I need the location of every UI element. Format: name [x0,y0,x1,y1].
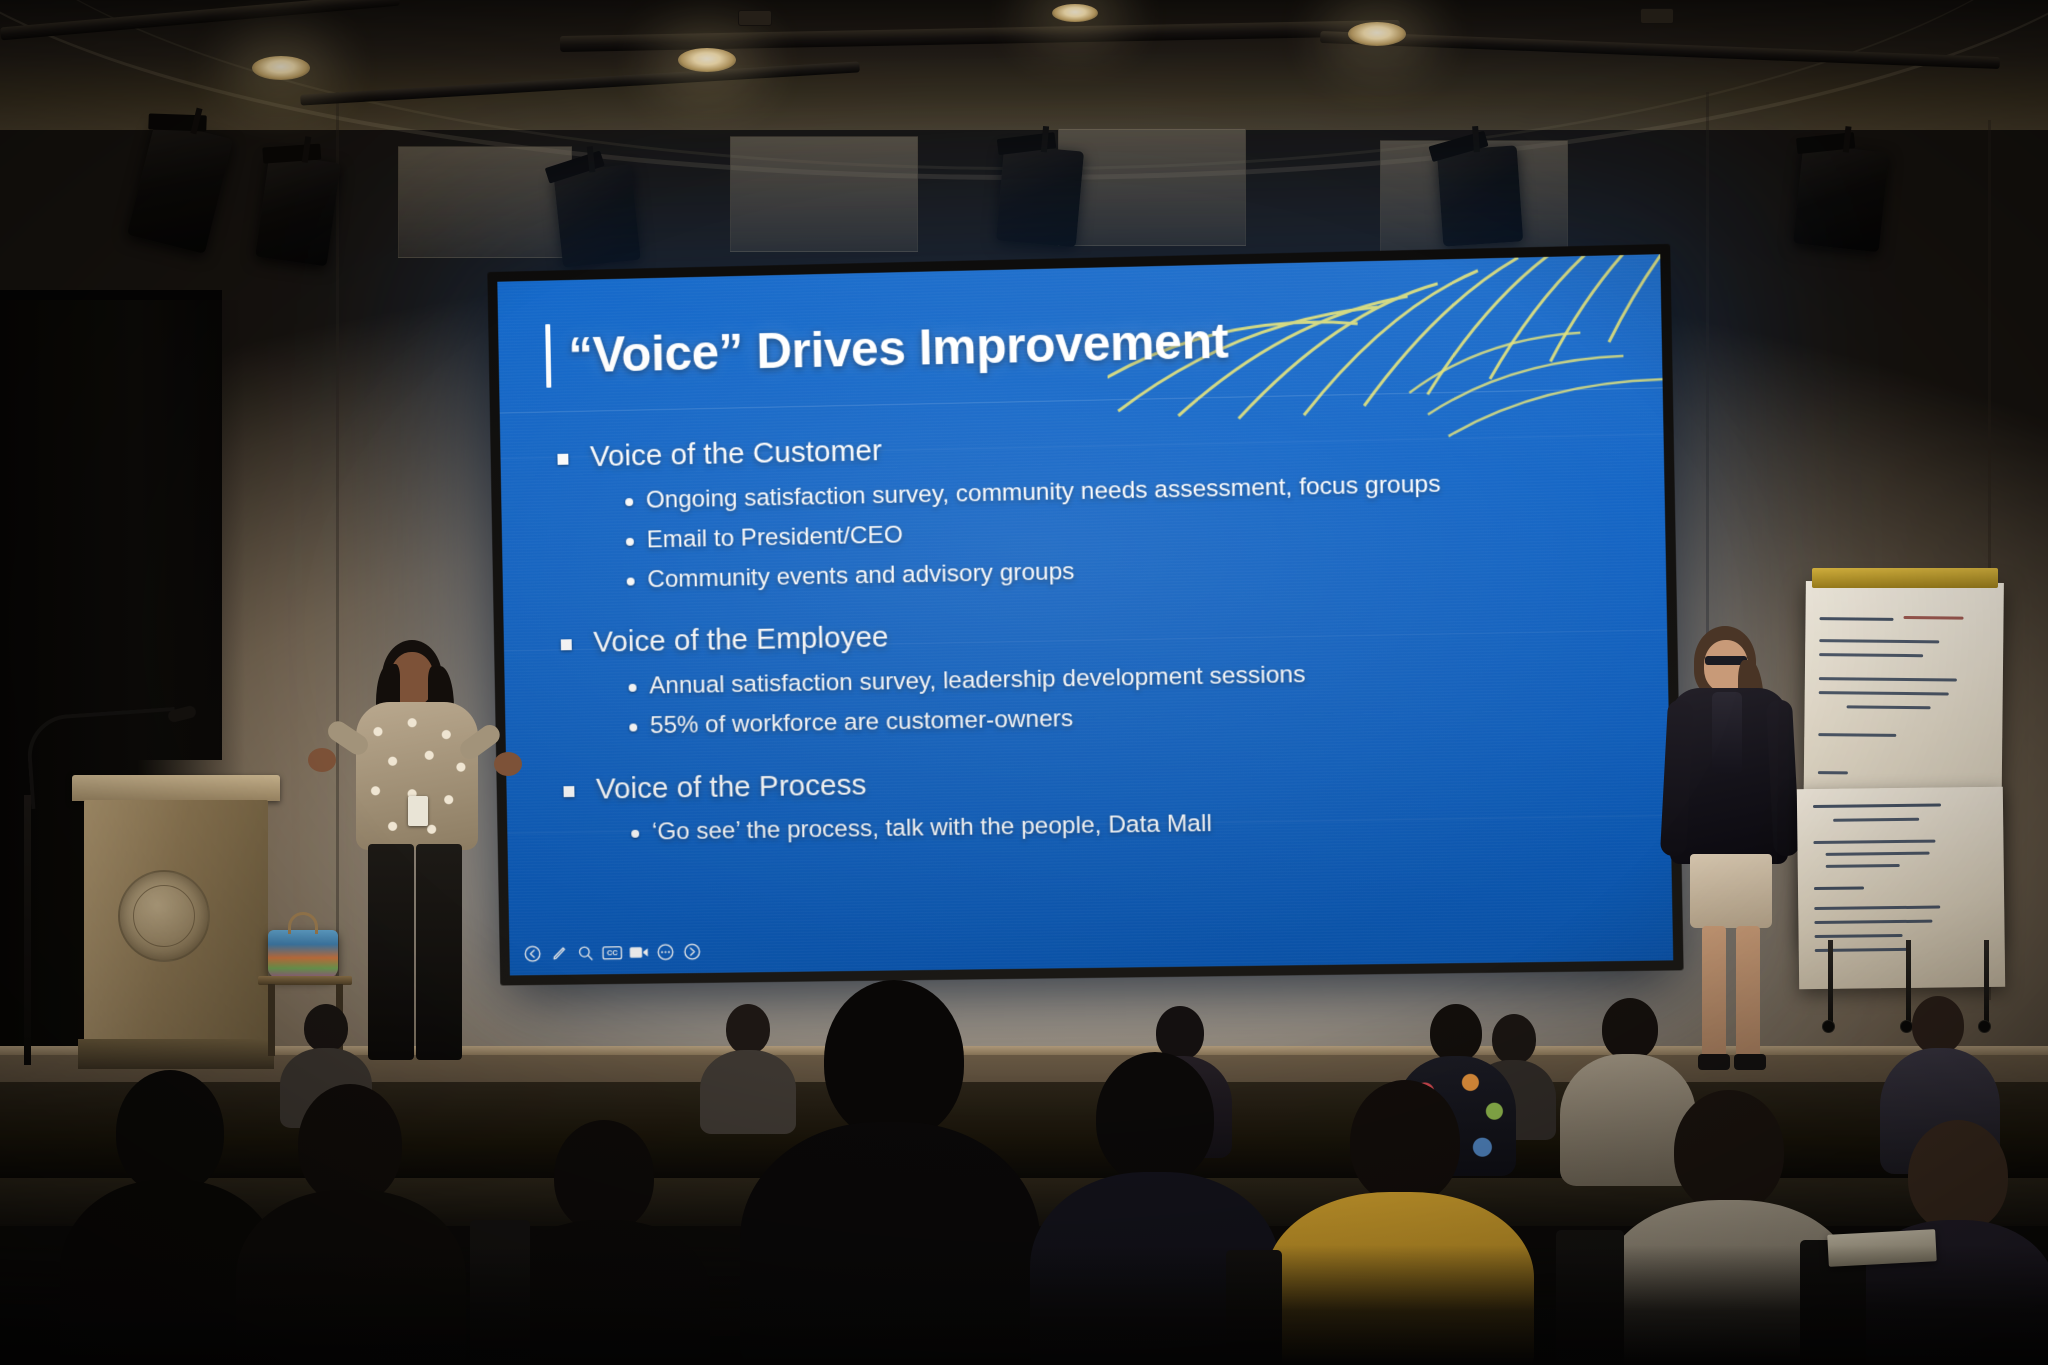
stage-spotlight [996,145,1084,248]
square-bullet-icon [561,640,572,651]
dot-bullet-icon [629,724,637,732]
ceiling-vent [738,10,772,26]
bullet-text: 55% of workforce are customer-owners [650,703,1074,744]
dot-bullet-icon [625,498,633,506]
presenter-left-blouse [356,702,478,850]
title-accent-rule [545,324,551,388]
dot-bullet-icon [629,684,637,692]
stage-spotlight [553,164,641,268]
presenter-left-hand [494,752,522,776]
bullet-text: Voice of the Customer [590,430,883,478]
stage-spotlight [1437,145,1524,246]
presenter-right-shirt [1712,692,1742,774]
dot-bullet-icon [631,830,639,838]
presenter-right-skirt [1690,854,1772,928]
recessed-ceiling-light [1052,4,1098,22]
presenter-left-hand [308,748,336,772]
bullet-text: ‘Go see’ the process, talk with the peop… [652,807,1212,850]
foreground-shadow [0,1245,2048,1365]
podium-top [72,775,280,801]
bullet-text: Voice of the Process [596,764,867,811]
bullet-text: Email to President/CEO [646,518,903,557]
flip-chart-clip [1812,568,1998,588]
slide-title-row: “Voice” Drives Improvement [545,309,1228,388]
wall-panel [730,136,918,252]
stage-spotlight [255,153,341,266]
dot-bullet-icon [626,538,634,546]
bullet-text: Voice of the Employee [593,617,889,665]
wall-panel [398,146,572,258]
projection-screen: “Voice” Drives Improvement Voice of the … [497,254,1673,975]
recessed-ceiling-light [678,48,736,72]
stage-spotlight [1793,144,1889,252]
bullet-text: Annual satisfaction survey, leadership d… [649,658,1306,704]
presenter-left-badge [408,796,428,826]
recessed-ceiling-light [252,56,310,80]
dot-bullet-icon [627,578,635,586]
slide-bullet-list: Voice of the Customer Ongoing satisfacti… [557,408,1634,851]
wall-panel [1058,128,1246,246]
presentation-photo: “Voice” Drives Improvement Voice of the … [0,0,2048,1365]
square-bullet-icon [563,786,574,797]
barn-door [262,144,321,164]
title-underline [500,387,1663,413]
recessed-ceiling-light [1348,22,1406,46]
square-bullet-icon [557,454,568,465]
bullet-level2: ‘Go see’ the process, talk with the peop… [631,801,1634,851]
ceiling-vent [1640,8,1674,24]
slide-title: “Voice” Drives Improvement [568,312,1229,385]
powerpoint-slide: “Voice” Drives Improvement Voice of the … [497,254,1673,975]
